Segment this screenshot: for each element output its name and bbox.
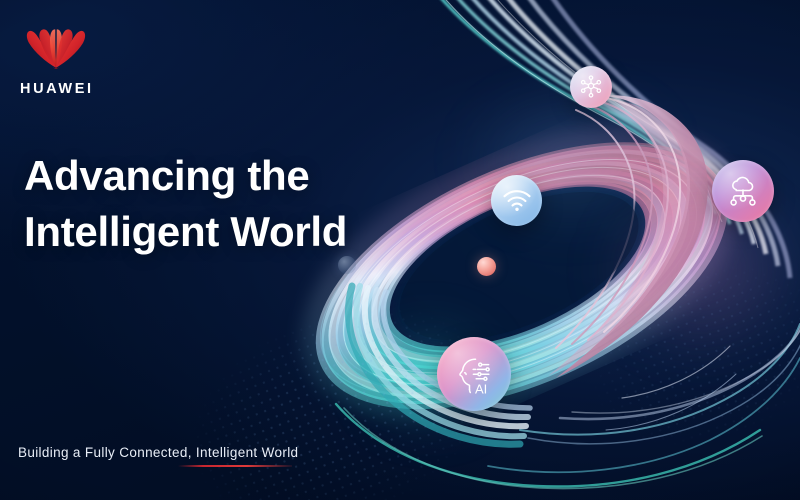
coral-orb — [477, 257, 496, 276]
huawei-flower-logo — [20, 26, 92, 72]
network-nodes-icon[interactable] — [570, 66, 612, 108]
huawei-wordmark: HUAWEI — [20, 82, 126, 97]
page-title: Advancing the Intelligent World — [24, 148, 444, 260]
huawei-hero-banner: AI — [0, 0, 800, 500]
tagline-underline — [178, 465, 292, 467]
headline-line-1: Advancing the — [24, 152, 309, 199]
tagline-text: Building a Fully Connected, Intelligent … — [18, 445, 298, 460]
ai-head-icon[interactable]: AI — [437, 337, 511, 411]
cloud-network-icon[interactable] — [712, 160, 774, 222]
wifi-icon[interactable] — [491, 175, 542, 226]
huawei-logo[interactable]: HUAWEI — [16, 26, 126, 97]
tagline-block: Building a Fully Connected, Intelligent … — [18, 445, 298, 460]
headline-line-2: Intelligent World — [24, 204, 444, 260]
halftone-dot-field-right — [532, 203, 800, 500]
ai-icon-label: AI — [475, 382, 487, 397]
